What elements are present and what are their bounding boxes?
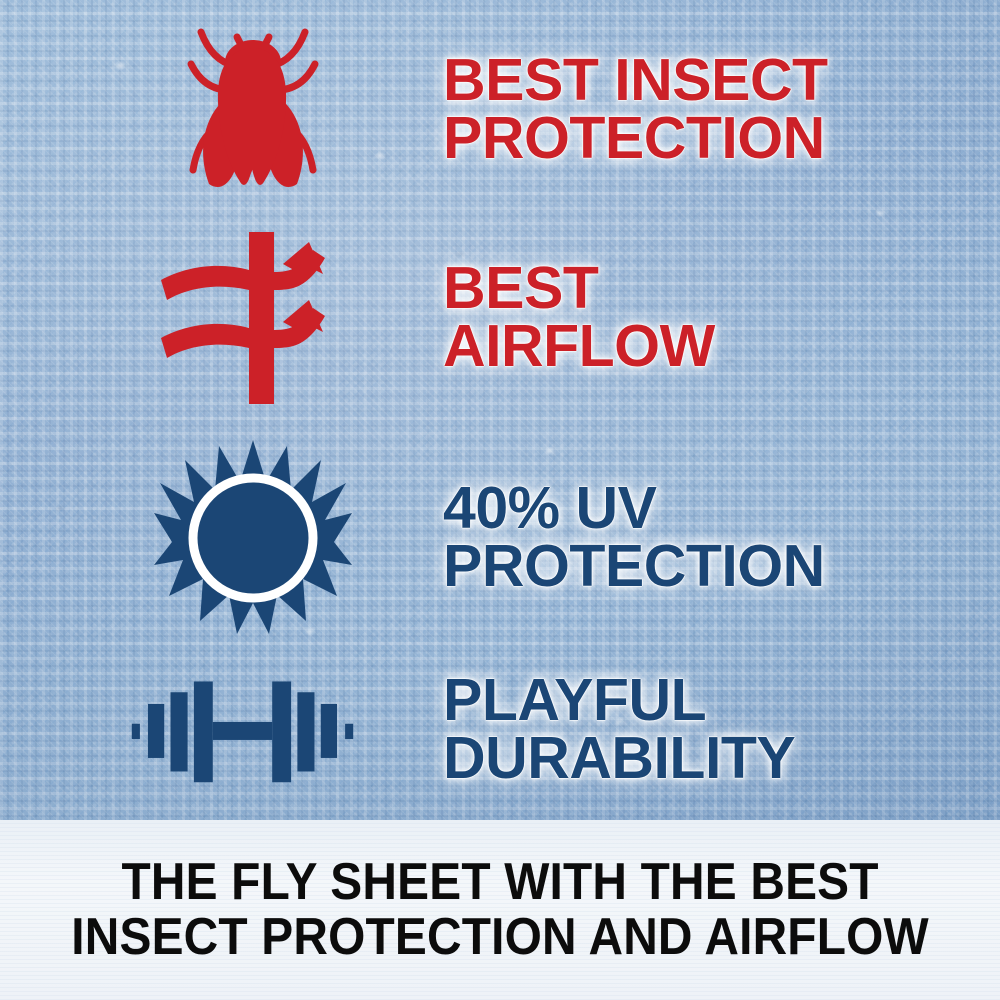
caption-headline: THE FLY SHEET WITH THE BEST INSECT PROTE…: [71, 855, 929, 965]
caption-panel: THE FLY SHEET WITH THE BEST INSECT PROTE…: [0, 820, 1000, 1000]
label-cell-airflow: BEST AIRFLOW: [355, 260, 990, 376]
infographic-poster: BEST INSECT PROTECTION: [0, 0, 1000, 1000]
label-cell-insect: BEST INSECT PROTECTION: [355, 52, 990, 168]
feature-row-airflow: BEST AIRFLOW: [150, 215, 990, 420]
feature-row-durability: PLAYFUL DURABILITY: [130, 645, 990, 815]
feature-label-insect-protection: BEST INSECT PROTECTION: [443, 52, 990, 168]
feature-label-durability: PLAYFUL DURABILITY: [443, 672, 990, 788]
feature-label-uv-protection: 40% UV PROTECTION: [443, 480, 990, 596]
icon-cell-uv: [150, 430, 355, 645]
dumbbell-icon: [130, 668, 355, 793]
fly-icon: [173, 18, 333, 203]
sun-uv-icon: [153, 438, 353, 638]
icon-cell-durability: [130, 655, 355, 805]
icon-cell-insect: [150, 10, 355, 210]
feature-label-airflow: BEST AIRFLOW: [443, 260, 990, 376]
label-cell-uv: 40% UV PROTECTION: [355, 480, 990, 596]
feature-list: BEST INSECT PROTECTION: [0, 0, 1000, 820]
feature-row-uv-protection: 40% UV PROTECTION: [150, 430, 990, 645]
icon-cell-airflow: [150, 215, 355, 420]
feature-row-insect-protection: BEST INSECT PROTECTION: [150, 10, 990, 210]
airflow-icon: [153, 228, 353, 408]
label-cell-durability: PLAYFUL DURABILITY: [355, 672, 990, 788]
